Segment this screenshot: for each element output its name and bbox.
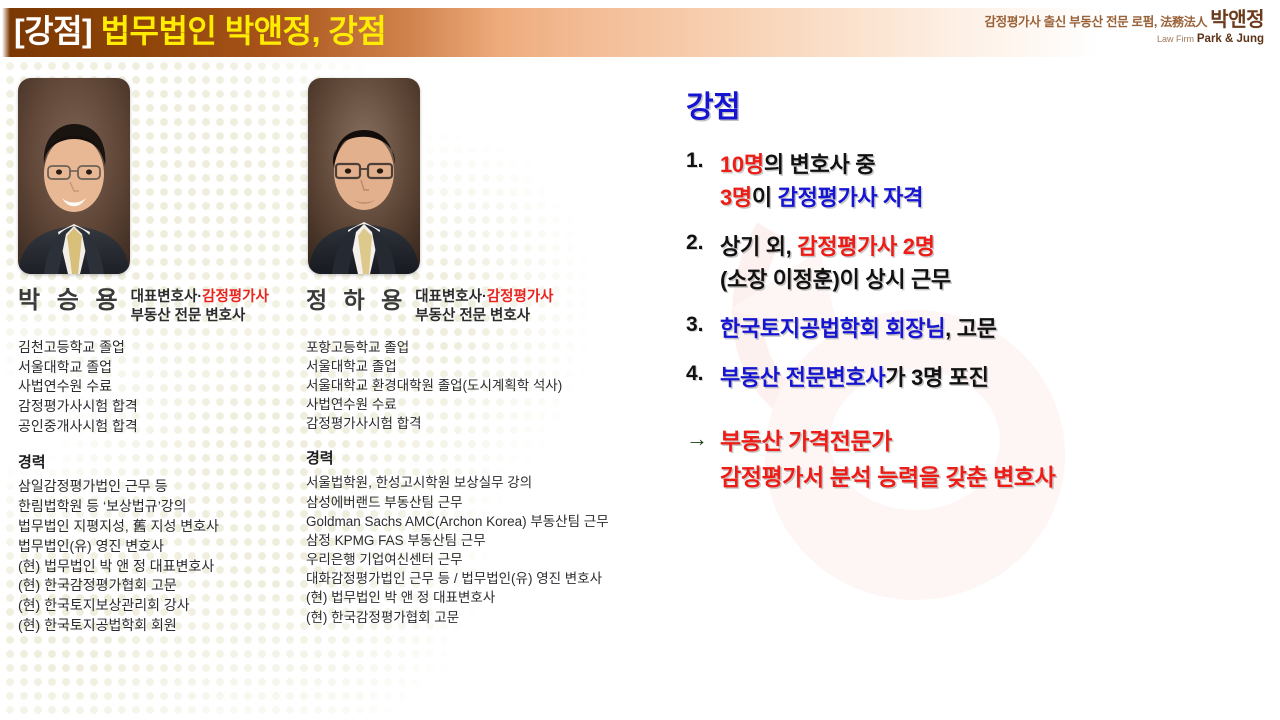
strength-item-1: 1. 10명의 변호사 중 3명이 감정평가사 자격 [686, 148, 1270, 214]
career-item: (현) 법무법인 박 앤 정 대표변호사 [18, 557, 308, 577]
education-item: 서울대학교 환경대학원 졸업(도시계획학 석사) [306, 376, 676, 395]
profile-card-park: 박 승 용 대표변호사·감정평가사 부동산 전문 변호사 김천고등학교 졸업 서… [18, 78, 308, 636]
strength-segment: 한국토지공법학회 회장님 [720, 316, 945, 341]
profile-photo-jung [308, 78, 420, 274]
conclusion-line: 감정평가서 분석 능력을 갖춘 변호사 [720, 460, 1055, 496]
strength-number-4: 4. [686, 361, 720, 386]
strength-number-3: 3. [686, 312, 720, 337]
career-item: (현) 한국토지공법학회 회원 [18, 616, 308, 636]
profile-title-line2-park: 부동산 전문 변호사 [131, 307, 269, 326]
strength-line: 3명이 감정평가사 자격 [720, 181, 1270, 214]
strength-line: 10명의 변호사 중 [720, 148, 1270, 181]
strength-line: (소장 이정훈)이 상시 근무 [720, 263, 1270, 296]
strength-item-3: 3. 한국토지공법학회 회장님, 고문 [686, 312, 1270, 345]
education-item: 사법연수원 수료 [306, 395, 676, 414]
strength-segment: 이 [752, 185, 778, 210]
career-item: 대화감정평가법인 근무 등 / 법무법인(유) 영진 변호사 [306, 569, 676, 588]
strengths-conclusion: → 부동산 가격전문가 감정평가서 분석 능력을 갖춘 변호사 [686, 424, 1270, 495]
profile-career-jung: 서울법학원, 한성고시학원 보상실무 강의 삼성에버랜드 부동산팀 근무 Gol… [306, 473, 676, 626]
career-item: 서울법학원, 한성고시학원 보상실무 강의 [306, 473, 676, 492]
profile-title-accent-jung: 감정평가사 [487, 289, 554, 305]
strength-line: 한국토지공법학회 회장님, 고문 [720, 312, 1270, 345]
education-item: 감정평가사시험 합격 [306, 414, 676, 433]
education-item: 공인중개사시험 합격 [18, 417, 308, 437]
career-item: (현) 한국감정평가협회 고문 [306, 608, 676, 627]
logo-english-prefix: Law Firm [1157, 34, 1194, 44]
profile-education-park: 김천고등학교 졸업 서울대학교 졸업 사법연수원 수료 감정평가사시험 합격 공… [18, 338, 308, 437]
conclusion-line: 부동산 가격전문가 [720, 424, 1055, 460]
arrow-right-icon: → [686, 424, 720, 452]
career-item: 삼성에버랜드 부동산팀 근무 [306, 493, 676, 512]
strength-segment: 감정평가사 2명 [797, 234, 934, 259]
career-item: (현) 법무법인 박 앤 정 대표변호사 [306, 588, 676, 607]
education-item: 서울대학교 졸업 [18, 358, 308, 378]
career-item: 삼일감정평가법인 근무 등 [18, 477, 308, 497]
education-item: 서울대학교 졸업 [306, 357, 676, 376]
strength-segment: 가 3명 포진 [885, 365, 988, 390]
logo-english-row: Law Firm Park & Jung [984, 33, 1264, 45]
profile-titles-jung: 대표변호사·감정평가사 부동산 전문 변호사 [415, 286, 553, 326]
strength-segment: , 고문 [945, 316, 997, 341]
logo-tagline: 감정평가사 출신 부동산 전문 로펌, [984, 15, 1157, 29]
profile-card-jung: 정 하 용 대표변호사·감정평가사 부동산 전문 변호사 포항고등학교 졸업 서… [306, 78, 676, 627]
strength-segment: 상기 외, [720, 234, 797, 259]
strength-line: 부동산 전문변호사가 3명 포진 [720, 361, 1270, 394]
education-item: 김천고등학교 졸업 [18, 338, 308, 358]
page-title-bracket: [강점] [14, 13, 92, 49]
logo-english-brand: Park & Jung [1197, 33, 1264, 45]
strength-line: 상기 외, 감정평가사 2명 [720, 230, 1270, 263]
profile-name-jung: 정 하 용 [306, 286, 407, 315]
brand-logo: 감정평가사 출신 부동산 전문 로펌, 法務法人 박앤정 Law Firm Pa… [984, 10, 1264, 45]
profile-title-accent-park: 감정평가사 [202, 289, 269, 305]
education-item: 포항고등학교 졸업 [306, 338, 676, 357]
strength-segment: 감정평가사 자격 [778, 185, 923, 210]
career-item: 한림법학원 등 ‘보상법규’강의 [18, 497, 308, 517]
career-item: 법무법인(유) 영진 변호사 [18, 537, 308, 557]
career-item: 삼정 KPMG FAS 부동산팀 근무 [306, 531, 676, 550]
profile-titles-park: 대표변호사·감정평가사 부동산 전문 변호사 [131, 286, 269, 326]
profile-photo-park [18, 78, 130, 274]
logo-entity-kanji: 法務法人 [1160, 15, 1207, 29]
education-item: 사법연수원 수료 [18, 377, 308, 397]
strengths-heading: 강점 [686, 82, 1270, 126]
education-item: 감정평가사시험 합격 [18, 397, 308, 417]
profile-title-role-jung: 대표변호사· [415, 289, 487, 305]
logo-brand-name: 박앤정 [1210, 9, 1264, 31]
profile-education-jung: 포항고등학교 졸업 서울대학교 졸업 서울대학교 환경대학원 졸업(도시계획학 … [306, 338, 676, 434]
profile-title-line2-jung: 부동산 전문 변호사 [415, 307, 553, 326]
strength-segment: (소장 이정훈)이 상시 근무 [720, 267, 951, 292]
strengths-panel: 강점 1. 10명의 변호사 중 3명이 감정평가사 자격 2. 상기 외, 감… [686, 82, 1270, 495]
strength-item-4: 4. 부동산 전문변호사가 3명 포진 [686, 361, 1270, 394]
strength-segment: 10명 [720, 152, 764, 177]
career-item: 우리은행 기업여신센터 근무 [306, 550, 676, 569]
page-title: [강점] 법무법인 박앤정, 강점 [14, 6, 386, 52]
profile-name-row-jung: 정 하 용 대표변호사·감정평가사 부동산 전문 변호사 [306, 286, 676, 326]
profile-title-role-park: 대표변호사· [131, 289, 203, 305]
strength-segment: 의 변호사 중 [764, 152, 875, 177]
profile-career-park: 삼일감정평가법인 근무 등 한림법학원 등 ‘보상법규’강의 법무법인 지평지성… [18, 477, 308, 636]
career-item: (현) 한국토지보상관리회 강사 [18, 596, 308, 616]
profile-name-row-park: 박 승 용 대표변호사·감정평가사 부동산 전문 변호사 [18, 286, 308, 326]
profile-title-line1-jung: 대표변호사·감정평가사 [415, 288, 553, 307]
strength-segment: 부동산 전문변호사 [720, 365, 885, 390]
strength-segment: 3명 [720, 185, 752, 210]
career-label-jung: 경력 [306, 447, 676, 468]
career-item: 법무법인 지평지성, 舊 지성 변호사 [18, 517, 308, 537]
profile-name-park: 박 승 용 [18, 286, 123, 316]
strength-number-1: 1. [686, 148, 720, 173]
logo-tagline-row: 감정평가사 출신 부동산 전문 로펌, 法務法人 박앤정 [984, 10, 1264, 31]
career-item: (현) 한국감정평가협회 고문 [18, 576, 308, 596]
profile-title-line1-park: 대표변호사·감정평가사 [131, 288, 269, 307]
strength-number-2: 2. [686, 230, 720, 255]
career-item: Goldman Sachs AMC(Archon Korea) 부동산팀 근무 [306, 512, 676, 531]
career-label-park: 경력 [18, 451, 308, 472]
strength-item-2: 2. 상기 외, 감정평가사 2명 (소장 이정훈)이 상시 근무 [686, 230, 1270, 296]
page-title-main: 법무법인 박앤정, 강점 [101, 13, 387, 49]
